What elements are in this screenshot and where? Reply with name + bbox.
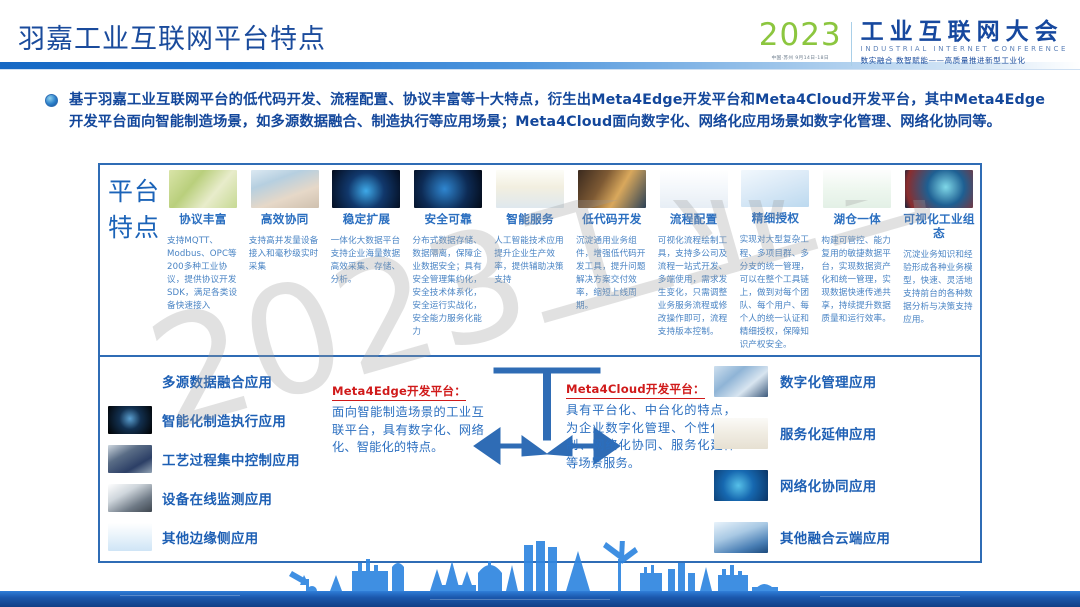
slide-root: 羽嘉工业互联网平台特点 2023 中国·苏州 9月14日-18日 工业互联网大会… [0,0,1080,607]
application-label: 多源数据融合应用 [162,371,272,391]
edge-platform-heading: Meta4Edge开发平台： [332,383,466,401]
person-network-image [414,170,482,208]
cloud-platform-heading: Meta4Cloud开发平台： [566,381,705,399]
intro-paragraph: 基于羽嘉工业互联网平台的低代码开发、流程配置、协议丰富等十大特点，衍生出Meta… [45,90,1045,133]
application-label: 网络化协同应用 [780,475,877,495]
nodes-image [741,170,809,207]
platform-feature-column: 安全可靠分布式数据存储、数据隔离，保障企业数据安全；具有安全管理集约化，安全技术… [407,170,489,352]
cloud-application-list: 数字化管理应用服务化延伸应用网络化协同应用其他融合云端应用 [714,364,974,554]
platform-feature-desc: 分布式数据存储、数据隔离，保障企业数据安全；具有安全管理集约化，安全技术体系化，… [410,235,486,340]
page-title: 羽嘉工业互联网平台特点 [18,17,326,56]
platform-feature-title: 可视化工业组态 [901,212,977,241]
platform-feature-desc: 支持高并发量设备接入和毫秒级实时采集 [247,235,323,274]
platform-feature-desc: 一体化大数据平台支持企业海量数据高效采集、存储、分析。 [329,235,405,287]
logo-text-block: 工业互联网大会 INDUSTRIAL INTERNET CONFERENCE 数… [861,20,1068,66]
platform-feature-desc: 构建可管控、能力复用的敏捷数据平台，实现数据资产化和统一管理，实现数据快速传递共… [819,235,895,326]
application-label: 设备在线监测应用 [162,488,272,508]
platform-feature-title: 智能服务 [506,212,554,227]
logo-chinese-name: 工业互联网大会 [861,20,1068,44]
globe-network-image [332,170,400,208]
application-label: 智能化制造执行应用 [162,410,286,430]
data-lake-image [823,170,891,208]
intro-text: 基于羽嘉工业互联网平台的低代码开发、流程配置、协议丰富等十大特点，衍生出Meta… [69,90,1045,133]
platform-feature-desc: 可视化流程绘制工具，支持多公司及流程一站式开发、多端使用，需求发生变化，只需调整… [656,235,732,340]
edge-platform-description: Meta4Edge开发平台： 面向智能制造场景的工业互联平台，具有数字化、网络化… [332,380,484,457]
data-merge-icon [108,367,152,395]
platform-feature-column: 智能服务人工智能技术应用提升企业生产效率，提供辅助决策支持 [489,170,571,352]
application-row[interactable]: 服务化延伸应用 [714,416,974,450]
edge-platform-body: 面向智能制造场景的工业互联平台，具有数字化、网络化、智能化的特点。 [332,404,484,457]
platform-features-row-label: 平台特点 [108,174,160,247]
platform-feature-desc: 人工智能技术应用提升企业生产效率，提供辅助决策支持 [492,235,568,287]
network-collab-image [714,470,768,501]
flowchart-image [660,170,728,208]
logo-year-block: 2023 中国·苏州 9月14日-18日 [759,20,842,61]
application-row[interactable]: 网络化协同应用 [714,468,974,502]
platform-feature-desc: 沉淀业务知识和经验形成各种业务模型，快速、灵活地支持前台的各种数据分析与决策支持… [901,249,977,327]
application-row[interactable]: 设备在线监测应用 [108,481,408,515]
platform-feature-title: 安全可靠 [425,212,473,227]
frame-horizontal-divider [98,355,982,357]
service-word-cloud-image [714,418,768,449]
circuit-board-image [169,170,237,208]
city-skyline-decoration [0,541,1080,607]
platform-feature-title: 低代码开发 [582,212,641,227]
logo-english-name: INDUSTRIAL INTERNET CONFERENCE [861,45,1068,53]
handshake-image [251,170,319,208]
logo-year: 2023 [759,20,842,51]
conference-logo: 2023 中国·苏州 9月14日-18日 工业互联网大会 INDUSTRIAL … [759,20,1068,66]
bullet-circle-icon [45,94,58,107]
platform-feature-column: 精细授权实现对大型复杂工程、多项目群、多分支的统一管理，可以在整个工具链上，做到… [735,170,817,352]
title-underline-thin [0,69,1080,70]
ai-dashboard-image [496,170,564,208]
digital-management-image [714,366,768,397]
platform-feature-column: 流程配置可视化流程绘制工具，支持多公司及流程一站式开发、多端使用，需求发生变化，… [653,170,735,352]
application-row[interactable]: 数字化管理应用 [714,364,974,398]
smart-factory-image [108,406,152,434]
platform-feature-column: 低代码开发沉淀通用业务组件，增强低代码开发工具，提升问题解决方案交付效率，缩短上… [571,170,653,352]
platform-features-columns: 协议丰富支持MQTT、Modbus、OPC等200多种工业协议，提供协议开发SD… [162,170,980,352]
motor-image [108,484,152,512]
bottom-section: 多源数据融合应用智能化制造执行应用工艺过程集中控制应用设备在线监测应用其他边缘侧… [100,358,980,561]
platform-feature-title: 流程配置 [670,212,718,227]
logo-year-subtitle: 中国·苏州 9月14日-18日 [772,54,829,61]
cloud-platform-body: 具有平台化、中台化的特点，为企业数字化管理、个性化定制、网络化协同、服务化延伸等… [566,402,736,472]
platform-feature-column: 湖仓一体构建可管控、能力复用的敏捷数据平台，实现数据资产化和统一管理，实现数据快… [816,170,898,352]
platform-feature-desc: 支持MQTT、Modbus、OPC等200多种工业协议，提供协议开发SDK，满足… [165,235,241,313]
platform-feature-column: 高效协同支持高并发量设备接入和毫秒级实时采集 [244,170,326,352]
platform-feature-column: 稳定扩展一体化大数据平台支持企业海量数据高效采集、存储、分析。 [326,170,408,352]
logo-slogan: 数实融合 数智赋能——高质量推进新型工业化 [861,55,1068,66]
platform-feature-title: 稳定扩展 [343,212,391,227]
cloud-platform-description: Meta4Cloud开发平台： 具有平台化、中台化的特点，为企业数字化管理、个性… [566,378,736,472]
platform-feature-column: 协议丰富支持MQTT、Modbus、OPC等200多种工业协议，提供协议开发SD… [162,170,244,352]
platform-feature-column: 可视化工业组态沉淀业务知识和经验形成各种业务模型，快速、灵活地支持前台的各种数据… [898,170,980,352]
application-label: 数字化管理应用 [780,371,877,391]
platform-feature-title: 精细授权 [752,211,800,226]
application-label: 工艺过程集中控制应用 [162,449,300,469]
platform-feature-title: 高效协同 [261,212,309,227]
visual-hud-image [905,170,973,208]
platform-feature-desc: 实现对大型复杂工程、多项目群、多分支的统一管理，可以在整个工具链上，做到对每个团… [738,234,814,352]
platform-feature-title: 协议丰富 [179,212,227,227]
low-code-image [578,170,646,208]
logo-divider [851,22,852,66]
platform-feature-title: 湖仓一体 [833,212,881,227]
platform-feature-desc: 沉淀通用业务组件，增强低代码开发工具，提升问题解决方案交付效率，缩短上线周期。 [574,235,650,313]
application-label: 服务化延伸应用 [780,423,877,443]
process-control-image [108,445,152,473]
